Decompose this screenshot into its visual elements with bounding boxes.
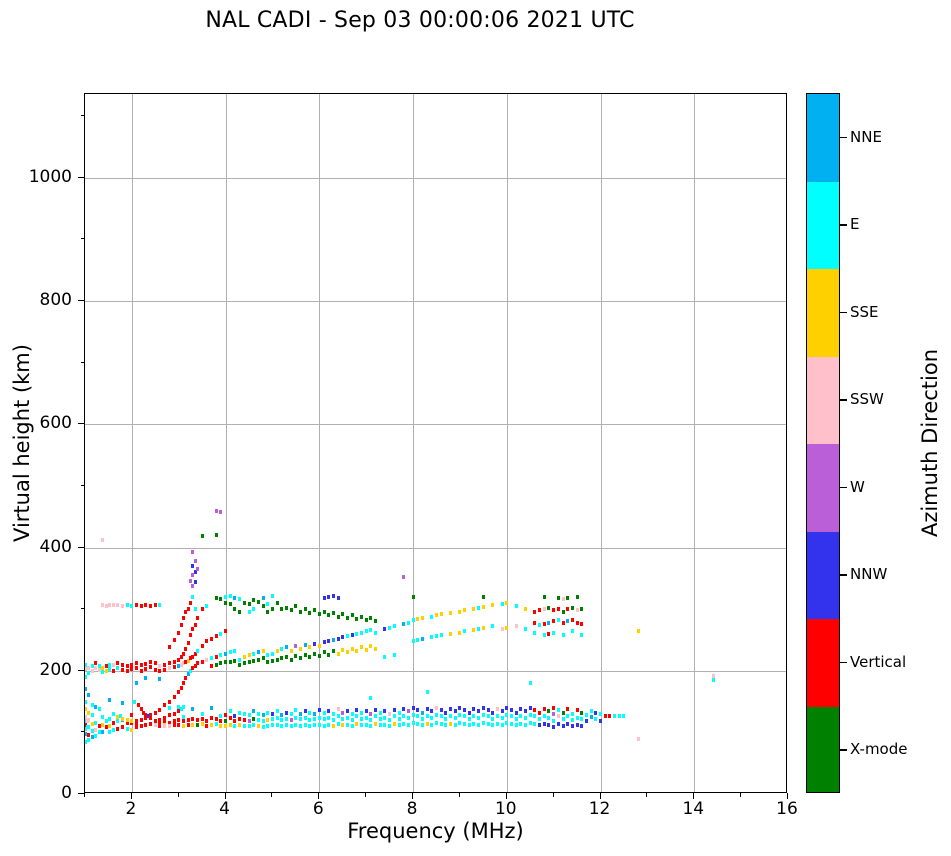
- data-cell: [224, 652, 227, 656]
- data-cell: [85, 700, 87, 704]
- data-cell: [430, 635, 433, 639]
- data-cell: [590, 715, 593, 719]
- data-cell: [398, 717, 401, 721]
- data-cell: [130, 713, 133, 717]
- y-axis-tick-minor: [81, 362, 85, 363]
- data-cell: [304, 709, 307, 713]
- data-cell: [369, 712, 372, 716]
- data-cell: [496, 707, 499, 711]
- colorbar-tick-label-vertical: Vertical: [850, 653, 906, 671]
- data-cell: [398, 723, 401, 727]
- data-cell: [210, 637, 213, 641]
- data-cell: [580, 717, 583, 721]
- data-cell: [215, 717, 218, 721]
- data-cell: [557, 708, 560, 712]
- data-cell: [491, 723, 494, 727]
- data-cell: [529, 706, 532, 710]
- colorbar-tick: [840, 224, 847, 225]
- data-cell: [177, 631, 180, 635]
- data-cell: [313, 642, 316, 646]
- data-cell: [308, 718, 311, 722]
- data-cell: [426, 722, 429, 726]
- data-cell: [294, 654, 297, 658]
- data-cell: [299, 610, 302, 614]
- data-cell: [243, 718, 246, 722]
- data-cell: [351, 718, 354, 722]
- data-cell: [266, 718, 269, 722]
- data-cell: [158, 664, 161, 668]
- data-cell: [144, 676, 147, 680]
- data-cell: [219, 661, 222, 665]
- data-cell: [529, 681, 532, 685]
- data-cell: [454, 723, 457, 727]
- data-cell: [201, 712, 204, 716]
- data-cell: [262, 719, 265, 723]
- data-cell: [224, 713, 227, 717]
- data-cell: [454, 716, 457, 720]
- data-cell: [599, 712, 602, 716]
- data-cell: [524, 709, 527, 713]
- data-cell: [487, 714, 490, 718]
- data-cell: [201, 607, 204, 611]
- y-axis-tick-minor: [81, 731, 85, 732]
- data-cell: [538, 711, 541, 715]
- data-cell: [135, 666, 138, 670]
- data-cell: [177, 690, 180, 694]
- data-cell: [412, 706, 415, 710]
- data-cell: [98, 730, 101, 734]
- data-cell: [369, 696, 372, 700]
- data-cell: [505, 721, 508, 725]
- data-cell: [276, 601, 279, 605]
- data-cell: [318, 708, 321, 712]
- data-cell: [337, 707, 340, 711]
- data-cell: [594, 711, 597, 715]
- data-cell: [576, 716, 579, 720]
- data-cell: [180, 623, 183, 627]
- data-cell: [285, 655, 288, 659]
- data-cell: [266, 660, 269, 664]
- data-cell: [458, 713, 461, 717]
- data-cell: [637, 737, 640, 741]
- data-cell: [622, 714, 625, 718]
- data-cell: [262, 604, 265, 608]
- data-cell: [271, 659, 274, 663]
- data-cell: [194, 607, 197, 611]
- data-cell: [388, 724, 391, 728]
- data-cell: [229, 709, 232, 713]
- colorbar-segment-ssw: [807, 357, 839, 445]
- data-cell: [252, 652, 255, 656]
- data-cell: [290, 712, 293, 716]
- data-cell: [482, 626, 485, 630]
- data-cell: [421, 723, 424, 727]
- data-cell: [252, 717, 255, 721]
- data-cell: [454, 709, 457, 713]
- data-cell: [219, 510, 222, 514]
- data-cell: [477, 723, 480, 727]
- data-cell: [308, 611, 311, 615]
- data-cell: [229, 594, 232, 598]
- data-cell: [233, 724, 236, 728]
- data-cell: [94, 705, 97, 709]
- data-cell: [177, 705, 180, 709]
- data-cell: [276, 716, 279, 720]
- data-cell: [205, 639, 208, 643]
- data-cell: [271, 723, 274, 727]
- data-cell: [463, 708, 466, 712]
- data-cell: [440, 722, 443, 726]
- data-cell: [365, 709, 368, 713]
- data-cell: [248, 713, 251, 717]
- data-cell: [257, 718, 260, 722]
- data-cell: [108, 717, 111, 721]
- data-cell: [580, 633, 583, 637]
- data-cell: [369, 628, 372, 632]
- data-cell: [515, 717, 518, 721]
- data-cell: [108, 730, 111, 734]
- data-cell: [379, 717, 382, 721]
- data-cell: [323, 717, 326, 721]
- data-cell: [430, 709, 433, 713]
- data-cell: [168, 724, 171, 728]
- gridline-vertical: [226, 94, 227, 792]
- data-cell: [337, 615, 340, 619]
- data-cell: [189, 633, 192, 637]
- data-cell: [116, 727, 119, 731]
- data-cell: [341, 717, 344, 721]
- data-cell: [383, 709, 386, 713]
- data-cell: [412, 618, 415, 622]
- data-cell: [94, 661, 97, 665]
- data-cell: [313, 712, 316, 716]
- data-cell: [332, 649, 335, 653]
- data-cell: [440, 612, 443, 616]
- data-cell: [482, 605, 485, 609]
- data-cell: [346, 709, 349, 713]
- data-cell: [135, 681, 138, 685]
- data-cell: [613, 714, 616, 718]
- data-cell: [505, 626, 508, 630]
- data-cell: [294, 723, 297, 727]
- y-axis-label: Virtual height (km): [10, 344, 34, 542]
- colorbar-tick-label-nnw: NNW: [850, 565, 887, 583]
- data-cell: [229, 650, 232, 654]
- data-cell: [290, 608, 293, 612]
- data-cell: [215, 663, 218, 667]
- data-cell: [191, 655, 194, 659]
- data-cell: [374, 647, 377, 651]
- data-cell: [196, 567, 199, 571]
- data-cell: [402, 707, 405, 711]
- x-axis-tick-minor: [178, 793, 179, 797]
- data-cell: [468, 717, 471, 721]
- data-cell: [332, 724, 335, 728]
- data-cell: [121, 668, 124, 672]
- data-cell: [177, 718, 180, 722]
- data-cell: [533, 714, 536, 718]
- gridline-vertical: [319, 94, 320, 792]
- x-axis-tick-label: 2: [125, 799, 136, 819]
- data-cell: [355, 714, 358, 718]
- data-cell: [426, 714, 429, 718]
- gridline-horizontal: [85, 178, 786, 179]
- y-axis-tick: [78, 177, 84, 178]
- data-cell: [365, 618, 368, 622]
- data-cell: [276, 723, 279, 727]
- data-cell: [304, 723, 307, 727]
- x-axis-tick-minor: [84, 793, 85, 797]
- data-cell: [416, 722, 419, 726]
- data-cell: [576, 621, 579, 625]
- data-cell: [215, 509, 218, 513]
- data-cell: [205, 604, 208, 608]
- data-cell: [379, 723, 382, 727]
- data-cell: [505, 713, 508, 717]
- data-cell: [444, 723, 447, 727]
- data-cell: [637, 629, 640, 633]
- colorbar-tick: [840, 137, 847, 138]
- data-cell: [238, 658, 241, 662]
- data-cell: [224, 724, 227, 728]
- data-cell: [149, 604, 152, 608]
- data-cell: [308, 645, 311, 649]
- data-cell: [571, 718, 574, 722]
- data-cell: [533, 722, 536, 726]
- y-axis-tick-label: 1000: [0, 167, 72, 187]
- data-cell: [280, 647, 283, 651]
- data-cell: [416, 714, 419, 718]
- colorbar-tick: [840, 574, 847, 575]
- data-cell: [543, 714, 546, 718]
- data-cell: [140, 718, 143, 722]
- data-cell: [585, 719, 588, 723]
- data-cell: [85, 675, 87, 679]
- data-cell: [184, 676, 187, 680]
- y-axis-tick-minor: [81, 608, 85, 609]
- data-cell: [299, 656, 302, 660]
- data-cell: [552, 725, 555, 729]
- data-cell: [135, 661, 138, 665]
- data-cell: [421, 616, 424, 620]
- data-cell: [112, 669, 115, 673]
- data-cell: [557, 607, 560, 611]
- data-cell: [571, 606, 574, 610]
- data-cell: [519, 707, 522, 711]
- data-cell: [501, 627, 504, 631]
- data-cell: [505, 706, 508, 710]
- gridline-vertical: [601, 94, 602, 792]
- data-cell: [472, 628, 475, 632]
- data-cell: [280, 724, 283, 728]
- data-cell: [365, 629, 368, 633]
- data-cell: [337, 652, 340, 656]
- data-cell: [224, 660, 227, 664]
- data-cell: [510, 708, 513, 712]
- data-cell: [299, 712, 302, 716]
- data-cell: [519, 722, 522, 726]
- data-cell: [290, 724, 293, 728]
- data-cell: [440, 633, 443, 637]
- data-cell: [355, 722, 358, 726]
- data-cell: [201, 534, 204, 538]
- data-cell: [576, 708, 579, 712]
- data-cell: [285, 717, 288, 721]
- data-cell: [346, 723, 349, 727]
- colorbar-tick: [840, 399, 847, 400]
- data-cell: [529, 721, 532, 725]
- y-axis-tick-minor: [81, 238, 85, 239]
- data-cell: [187, 607, 190, 611]
- x-axis-tick-label: 12: [589, 799, 611, 819]
- data-cell: [233, 659, 236, 663]
- data-cell: [276, 709, 279, 713]
- data-cell: [346, 616, 349, 620]
- data-cell: [135, 725, 138, 729]
- data-cell: [233, 719, 236, 723]
- data-cell: [482, 595, 485, 599]
- colorbar-segment-w: [807, 444, 839, 532]
- data-cell: [168, 706, 171, 710]
- data-cell: [468, 723, 471, 727]
- data-cell: [224, 595, 227, 599]
- data-cell: [177, 723, 180, 727]
- data-cell: [365, 716, 368, 720]
- data-cell: [566, 707, 569, 711]
- data-cell: [552, 706, 555, 710]
- data-cell: [121, 725, 124, 729]
- data-cell: [327, 653, 330, 657]
- data-cell: [210, 706, 213, 710]
- data-cell: [168, 700, 171, 704]
- data-cell: [191, 584, 194, 588]
- colorbar-segment-nne: [807, 94, 839, 182]
- data-cell: [285, 723, 288, 727]
- data-cell: [266, 653, 269, 657]
- data-cell: [271, 712, 274, 716]
- data-cell: [191, 564, 194, 568]
- data-cell: [182, 681, 185, 685]
- data-cell: [463, 714, 466, 718]
- data-cell: [266, 602, 269, 606]
- data-cell: [510, 722, 513, 726]
- data-cell: [374, 722, 377, 726]
- data-cell: [421, 717, 424, 721]
- data-cell: [187, 641, 190, 645]
- data-cell: [163, 703, 166, 707]
- data-cell: [182, 724, 185, 728]
- data-cell: [229, 716, 232, 720]
- data-cell: [435, 706, 438, 710]
- data-cell: [196, 718, 199, 722]
- data-cell: [187, 723, 190, 727]
- data-cell: [154, 603, 157, 607]
- data-cell: [173, 665, 176, 669]
- data-cell: [126, 664, 129, 668]
- data-cell: [219, 714, 222, 718]
- data-cell: [402, 622, 405, 626]
- data-cell: [576, 595, 579, 599]
- y-axis-tick: [78, 670, 84, 671]
- data-cell: [299, 717, 302, 721]
- data-cell: [482, 721, 485, 725]
- data-cell: [440, 714, 443, 718]
- data-cell: [194, 623, 197, 627]
- data-cell: [337, 714, 340, 718]
- data-cell: [341, 711, 344, 715]
- data-cell: [210, 664, 213, 668]
- data-cell: [201, 660, 204, 664]
- data-cell: [262, 713, 265, 717]
- data-cell: [351, 724, 354, 728]
- colorbar-segment-nnw: [807, 532, 839, 620]
- data-cell: [205, 719, 208, 723]
- data-cell: [304, 607, 307, 611]
- data-cell: [140, 669, 143, 673]
- y-axis-tick-minor: [81, 485, 85, 486]
- data-cell: [383, 723, 386, 727]
- data-cell: [135, 721, 138, 725]
- data-cell: [580, 607, 583, 611]
- data-cell: [590, 709, 593, 713]
- data-cell: [308, 655, 311, 659]
- data-cell: [238, 717, 241, 721]
- data-cell: [557, 596, 560, 600]
- data-cell: [210, 723, 213, 727]
- data-cell: [524, 723, 527, 727]
- data-cell: [412, 639, 415, 643]
- gridline-vertical: [694, 94, 695, 792]
- data-cell: [248, 660, 251, 664]
- data-cell: [332, 611, 335, 615]
- data-cell: [229, 602, 232, 606]
- data-cell: [130, 604, 133, 608]
- data-cell: [524, 716, 527, 720]
- data-cell: [85, 687, 87, 691]
- data-cell: [327, 709, 330, 713]
- data-cell: [229, 723, 232, 727]
- data-cell: [294, 604, 297, 608]
- colorbar-tick: [840, 662, 847, 663]
- data-cell: [369, 644, 372, 648]
- y-axis-tick: [78, 547, 84, 548]
- data-cell: [477, 627, 480, 631]
- data-cell: [487, 708, 490, 712]
- data-cell: [543, 595, 546, 599]
- data-cell: [355, 632, 358, 636]
- data-cell: [257, 724, 260, 728]
- data-cell: [248, 653, 251, 657]
- data-cell: [112, 603, 115, 607]
- data-cell: [173, 638, 176, 642]
- data-cell: [243, 601, 246, 605]
- data-cell: [140, 663, 143, 667]
- data-cell: [580, 711, 583, 715]
- data-cell: [126, 727, 129, 731]
- data-cell: [308, 711, 311, 715]
- data-cell: [154, 668, 157, 672]
- data-cell: [416, 708, 419, 712]
- data-cell: [369, 718, 372, 722]
- data-cell: [393, 714, 396, 718]
- data-cell: [369, 724, 372, 728]
- colorbar-tick-label-sse: SSE: [850, 303, 879, 321]
- data-cell: [547, 709, 550, 713]
- data-cell: [121, 701, 124, 705]
- data-cell: [94, 728, 97, 732]
- x-axis-tick-label: 14: [682, 799, 704, 819]
- data-cell: [133, 700, 136, 704]
